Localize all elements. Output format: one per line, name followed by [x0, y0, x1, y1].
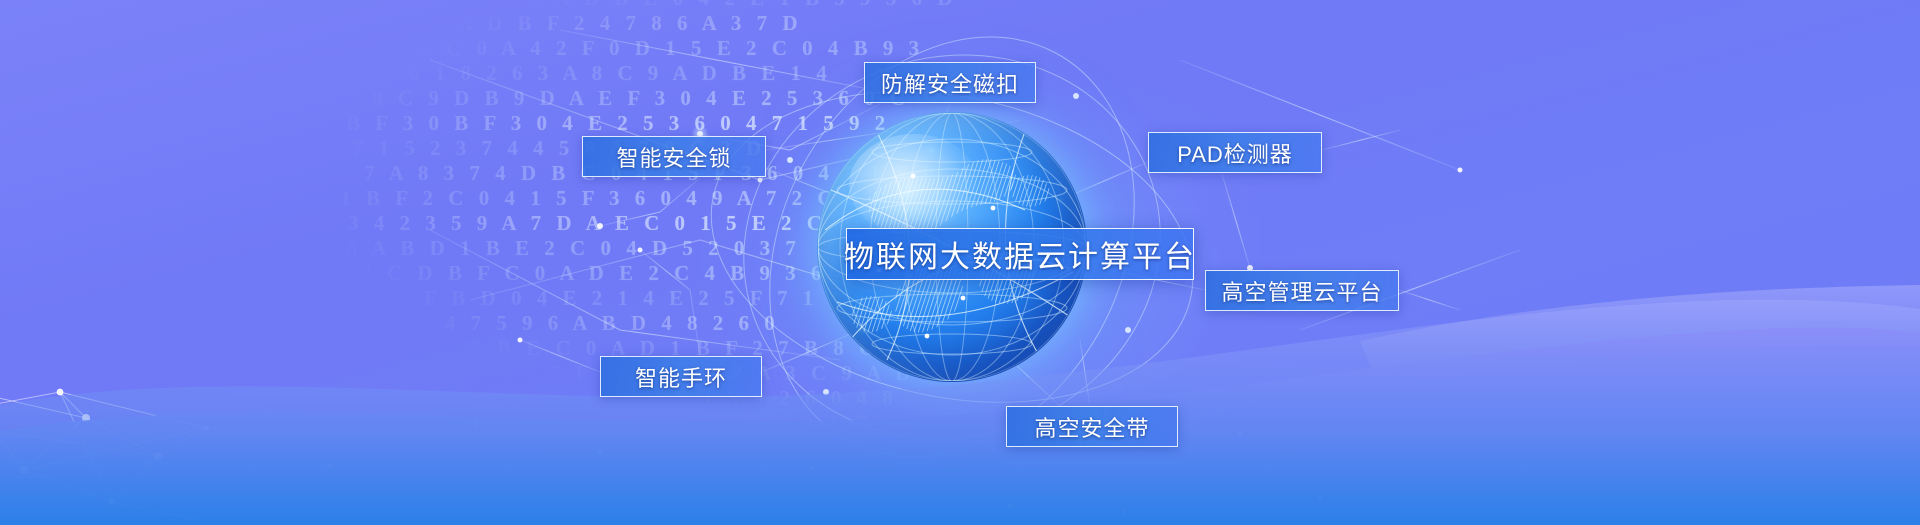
- hex-data-row: B 5 7 C 9 A D B F 2 4 7 8 6 A 3 7 D: [330, 11, 1570, 36]
- iot-platform-banner: 2 0 D A 4 F 3 7 C 9 A D B E 0 4 2 E 1 B …: [0, 0, 1920, 525]
- bottom-wave-decoration: [0, 285, 1920, 525]
- node-pad-detector[interactable]: PAD检测器: [1148, 132, 1322, 173]
- node-smart-lock-label: 智能安全锁: [616, 141, 731, 173]
- node-pad-detector-label: PAD检测器: [1177, 137, 1293, 169]
- node-smart-lock[interactable]: 智能安全锁: [582, 136, 766, 177]
- globe-specular-highlight: [849, 134, 979, 237]
- node-anti-unlock[interactable]: 防解安全磁扣: [864, 62, 1036, 103]
- node-anti-unlock-label: 防解安全磁扣: [881, 67, 1019, 99]
- center-platform-node[interactable]: 物联网大数据云计算平台: [846, 228, 1194, 280]
- node-cloud-manage[interactable]: 高空管理云平台: [1205, 270, 1399, 311]
- center-platform-label: 物联网大数据云计算平台: [844, 232, 1196, 276]
- node-smart-band[interactable]: 智能手环: [600, 356, 762, 397]
- node-cloud-manage-label: 高空管理云平台: [1221, 275, 1382, 307]
- node-safety-belt-label: 高空安全带: [1034, 411, 1149, 443]
- node-smart-band-label: 智能手环: [635, 361, 727, 393]
- hex-data-row: D B F C 0 A 4 2 F 0 D 1 5 E 2 C 0 4 B 9 …: [359, 36, 1570, 61]
- node-safety-belt[interactable]: 高空安全带: [1006, 406, 1178, 447]
- hex-data-row: 2 0 D A 4 F 3 7 C 9 A D B E 0 4 2 E 1 B …: [330, 0, 1570, 11]
